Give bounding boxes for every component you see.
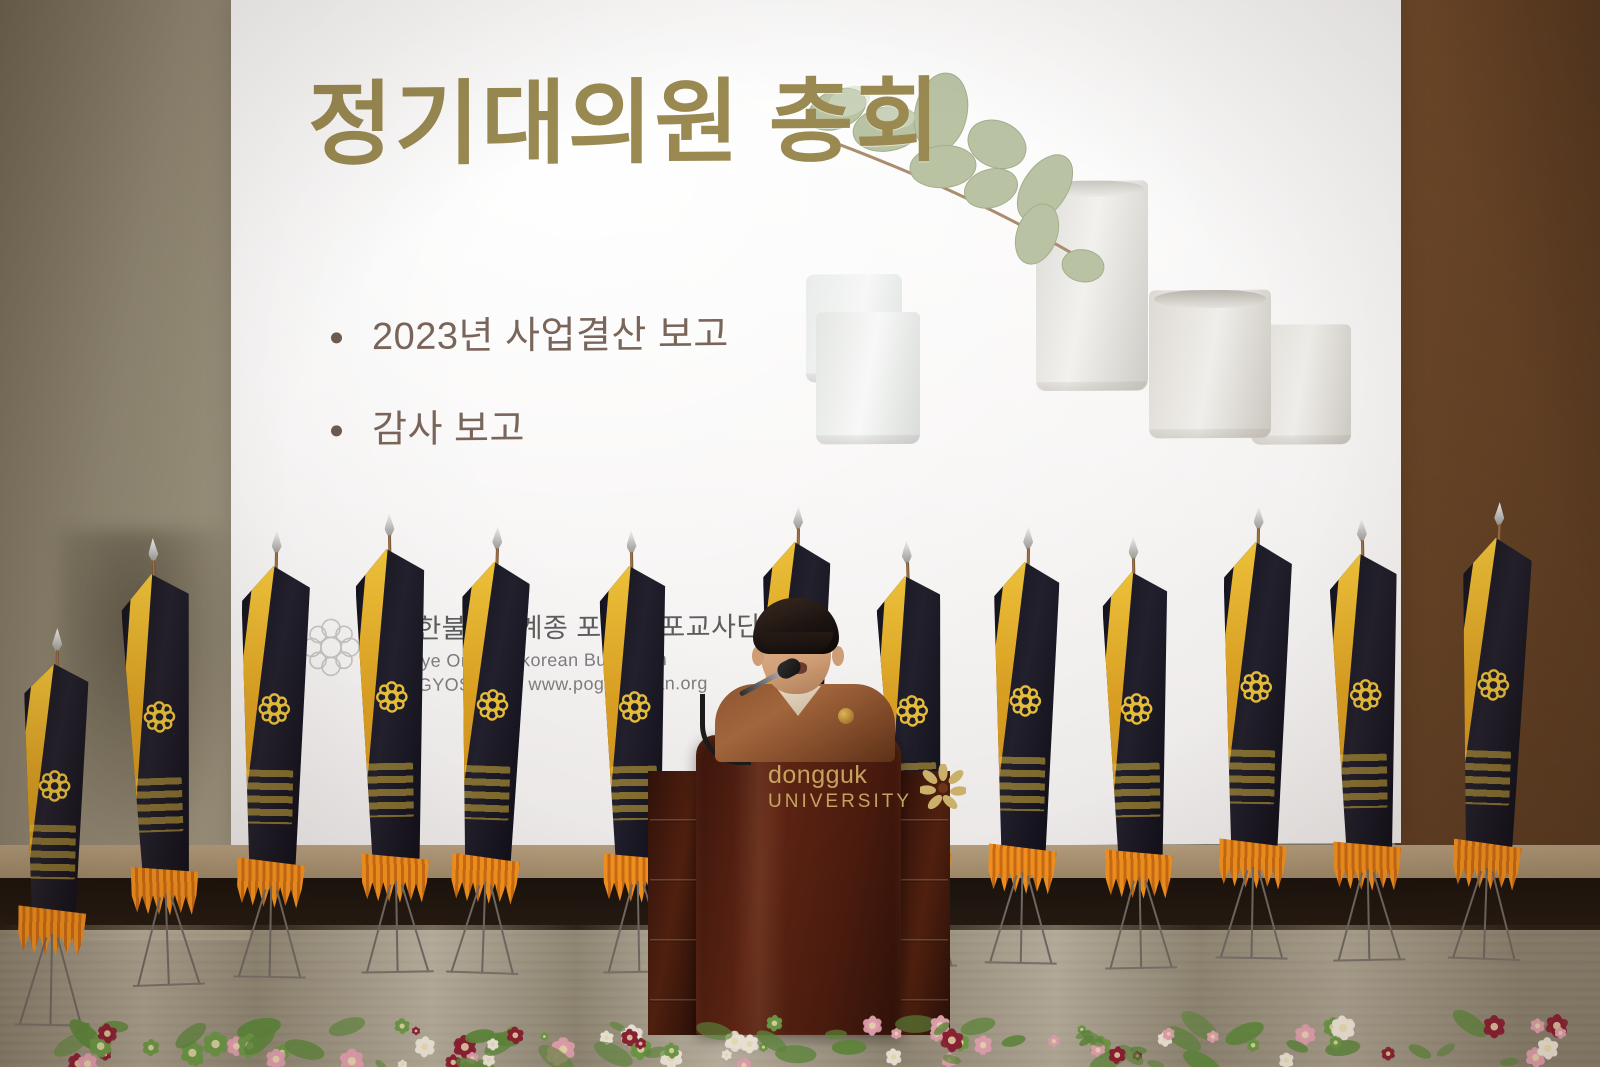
flag-stand	[1215, 866, 1289, 959]
podium-front-panel: dongguk UNIVERSITY	[696, 735, 901, 1035]
podium-side-panel	[648, 771, 700, 1035]
flag-stand	[233, 885, 307, 978]
list-item: 2023년 사업결산 보고	[331, 303, 729, 360]
flag-stand	[360, 880, 434, 973]
list-item: 감사 보고	[331, 396, 729, 453]
ceremonial-flag	[965, 547, 1084, 959]
flag-stand	[129, 893, 204, 987]
photograph-scene: 정기대의원 총회 2023년 사업결산 보고 감사 보고 대한불교조계종 포교원	[0, 0, 1600, 1067]
slide-bullet-list: 2023년 사업결산 보고 감사 보고	[331, 303, 729, 491]
robe-badge	[838, 708, 854, 724]
flag-stand	[1332, 868, 1406, 961]
ceremonial-flag	[1078, 557, 1196, 964]
flag-banner	[20, 663, 88, 914]
flag-banner	[1102, 571, 1172, 857]
flag-banner	[1329, 553, 1401, 849]
bullet-text: 감사 보고	[372, 397, 525, 453]
flag-stand	[14, 933, 88, 1026]
ceremonial-flag	[1425, 522, 1558, 956]
ceremonial-flag	[1305, 539, 1426, 956]
flag-stand	[985, 871, 1059, 964]
flag-banner	[237, 565, 310, 866]
speaker-person	[705, 596, 895, 756]
podium-brand-sub: UNIVERSITY	[768, 792, 912, 811]
flag-stand	[1448, 867, 1523, 961]
flag-banner	[453, 561, 530, 863]
flag-banner	[1219, 541, 1292, 847]
speaker-hair	[753, 598, 839, 654]
flag-stand	[1103, 876, 1177, 969]
lectern-podium: dongguk UNIVERSITY	[648, 735, 948, 1067]
bullet-dot-icon	[331, 332, 342, 343]
flag-banner	[120, 573, 198, 875]
ceremonial-flag	[95, 558, 227, 982]
bullet-text: 2023년 사업결산 보고	[372, 303, 729, 360]
flag-banner	[1454, 537, 1533, 849]
slide-title: 정기대의원 총회	[308, 74, 942, 174]
flag-stand	[446, 881, 521, 975]
podium-logo: dongguk UNIVERSITY	[768, 763, 966, 811]
flag-banner	[990, 561, 1060, 852]
lotus-emblem-icon	[920, 764, 966, 810]
flag-banner	[355, 548, 429, 861]
ceremonial-flag	[0, 649, 112, 1021]
ceremonial-flag	[1193, 527, 1317, 954]
bullet-dot-icon	[331, 425, 342, 436]
ceramic-vase	[816, 312, 920, 445]
podium-brand-word: dongguk	[768, 763, 912, 788]
ceremonial-flag	[211, 551, 335, 973]
ceremonial-flag	[425, 546, 554, 970]
